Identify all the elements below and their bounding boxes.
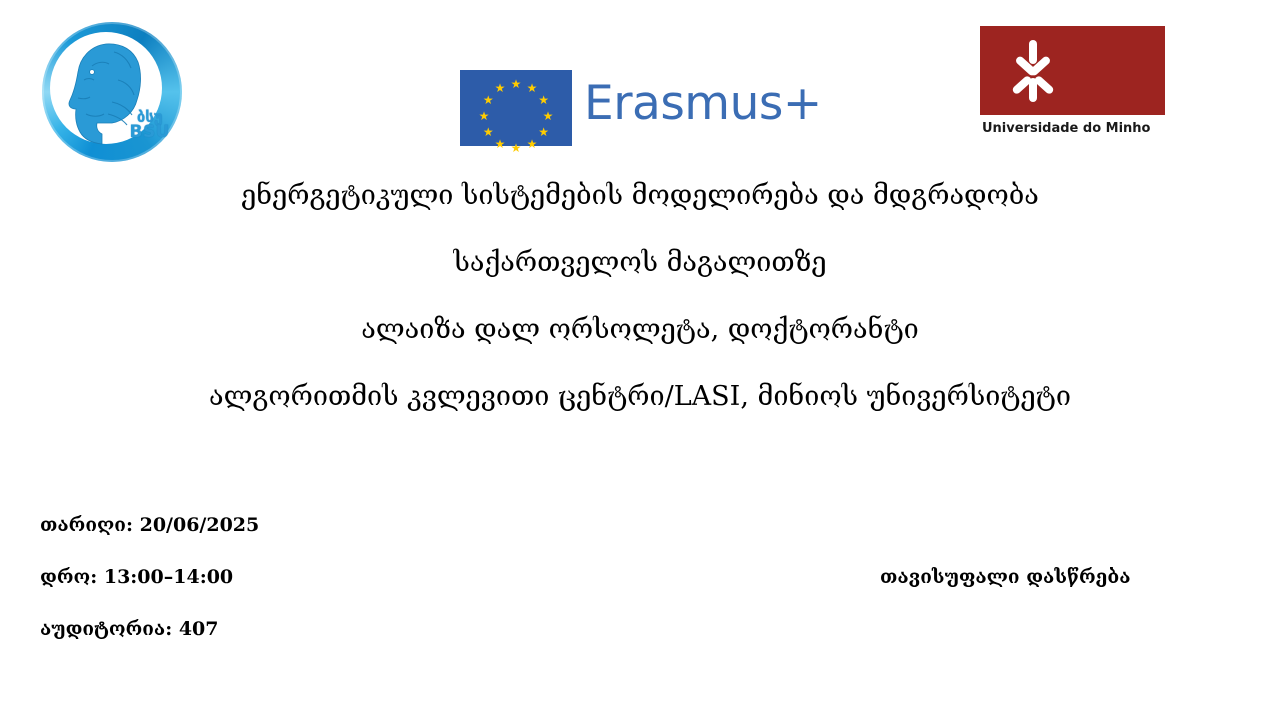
event-date: თარიღი: 20/06/2025 <box>40 516 1240 535</box>
erasmus-plus-logo: ★ ★ ★ ★ ★ ★ ★ ★ ★ ★ ★ ★ Erasmus+ <box>460 62 830 154</box>
detail-row-date: თარიღი: 20/06/2025 <box>40 516 1240 568</box>
eu-star: ★ <box>543 111 554 122</box>
eu-star: ★ <box>527 139 538 150</box>
minho-caption: Universidade do Minho <box>982 121 1151 136</box>
event-room: აუდიტორია: 407 <box>40 620 1240 639</box>
headline-line-2: საქართველოს მაგალითზე <box>0 249 1280 276</box>
bsu-wordmark-latin: BSU <box>129 124 170 140</box>
erasmus-plus-wordmark: Erasmus+ <box>584 80 822 127</box>
bsu-wordmark: ბსუ BSU <box>129 110 170 140</box>
eu-star: ★ <box>479 111 490 122</box>
eu-star: ★ <box>538 95 549 106</box>
eu-star: ★ <box>511 143 522 154</box>
eu-flag-icon: ★ ★ ★ ★ ★ ★ ★ ★ ★ ★ ★ ★ <box>460 70 572 146</box>
minho-box <box>980 26 1165 115</box>
headline-line-3: ალაიზა დალ ორსოლეტა, დოქტორანტი <box>0 316 1280 343</box>
eu-star: ★ <box>495 139 506 150</box>
event-details: თარიღი: 20/06/2025 დრო: 13:00–14:00 თავი… <box>40 516 1240 672</box>
minho-asterisk-icon <box>1002 40 1064 102</box>
eu-star: ★ <box>483 127 494 138</box>
eu-star: ★ <box>495 83 506 94</box>
eu-star: ★ <box>538 127 549 138</box>
eu-star: ★ <box>527 83 538 94</box>
detail-row-room: აუდიტორია: 407 <box>40 620 1240 672</box>
logo-band: ბსუ BSU ★ ★ ★ ★ ★ ★ ★ ★ ★ ★ ★ ★ Erasmus+ <box>0 0 1280 170</box>
headline-line-4: ალგორითმის კვლევითი ცენტრი/LASI, მინიოს … <box>0 383 1280 410</box>
eu-star: ★ <box>483 95 494 106</box>
headline-block: ენერგეტიკული სისტემების მოდელირება და მდ… <box>0 182 1280 410</box>
universidade-do-minho-logo: Universidade do Minho <box>980 26 1170 151</box>
bsu-logo: ბსუ BSU <box>36 18 188 166</box>
eu-star: ★ <box>511 79 522 90</box>
attendance-note: თავისუფალი დასწრება <box>880 568 1130 587</box>
headline-line-1: ენერგეტიკული სისტემების მოდელირება და მდ… <box>0 182 1280 209</box>
detail-row-time: დრო: 13:00–14:00 თავისუფალი დასწრება <box>40 568 1240 620</box>
